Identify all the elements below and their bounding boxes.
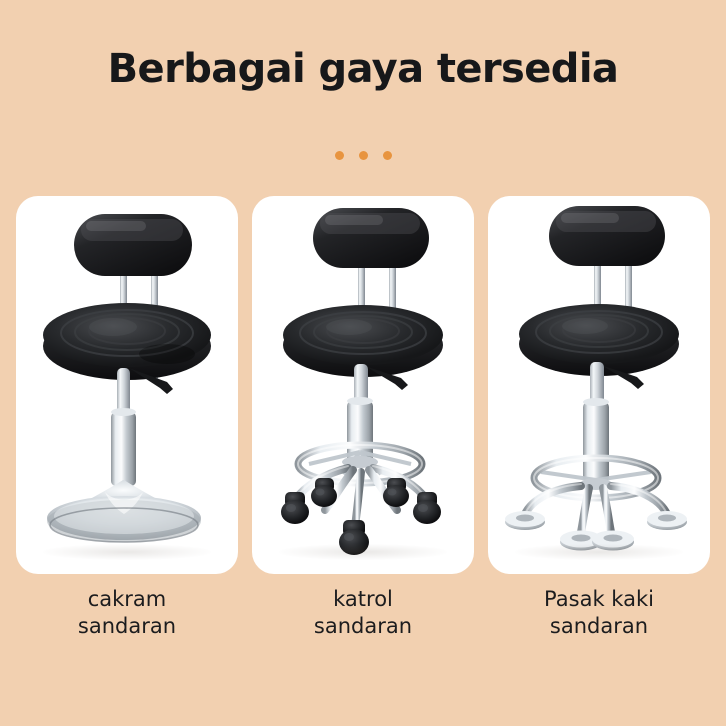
product-variant-gallery — [16, 196, 710, 574]
dot-icon-2 — [359, 151, 368, 160]
product-feature-poster: Berbagai gaya tersedia — [0, 0, 726, 726]
caption-katrol: katrol sandaran — [252, 586, 474, 640]
chair-image-katrol — [252, 196, 474, 574]
caption-pasak-kaki: Pasak kaki sandaran — [488, 586, 710, 640]
product-card-pasak-kaki[interactable] — [488, 196, 710, 574]
variant-captions: cakram sandaran katrol sandaran Pasak ka… — [16, 586, 710, 640]
page-title: Berbagai gaya tersedia — [0, 44, 726, 94]
product-card-katrol[interactable] — [252, 196, 474, 574]
chair-image-pasak-kaki — [488, 196, 710, 574]
dot-icon-1 — [335, 151, 344, 160]
caption-cakram: cakram sandaran — [16, 586, 238, 640]
chair-image-cakram — [16, 196, 238, 574]
product-card-cakram[interactable] — [16, 196, 238, 574]
dot-icon-3 — [383, 151, 392, 160]
decorative-dots — [0, 151, 726, 160]
